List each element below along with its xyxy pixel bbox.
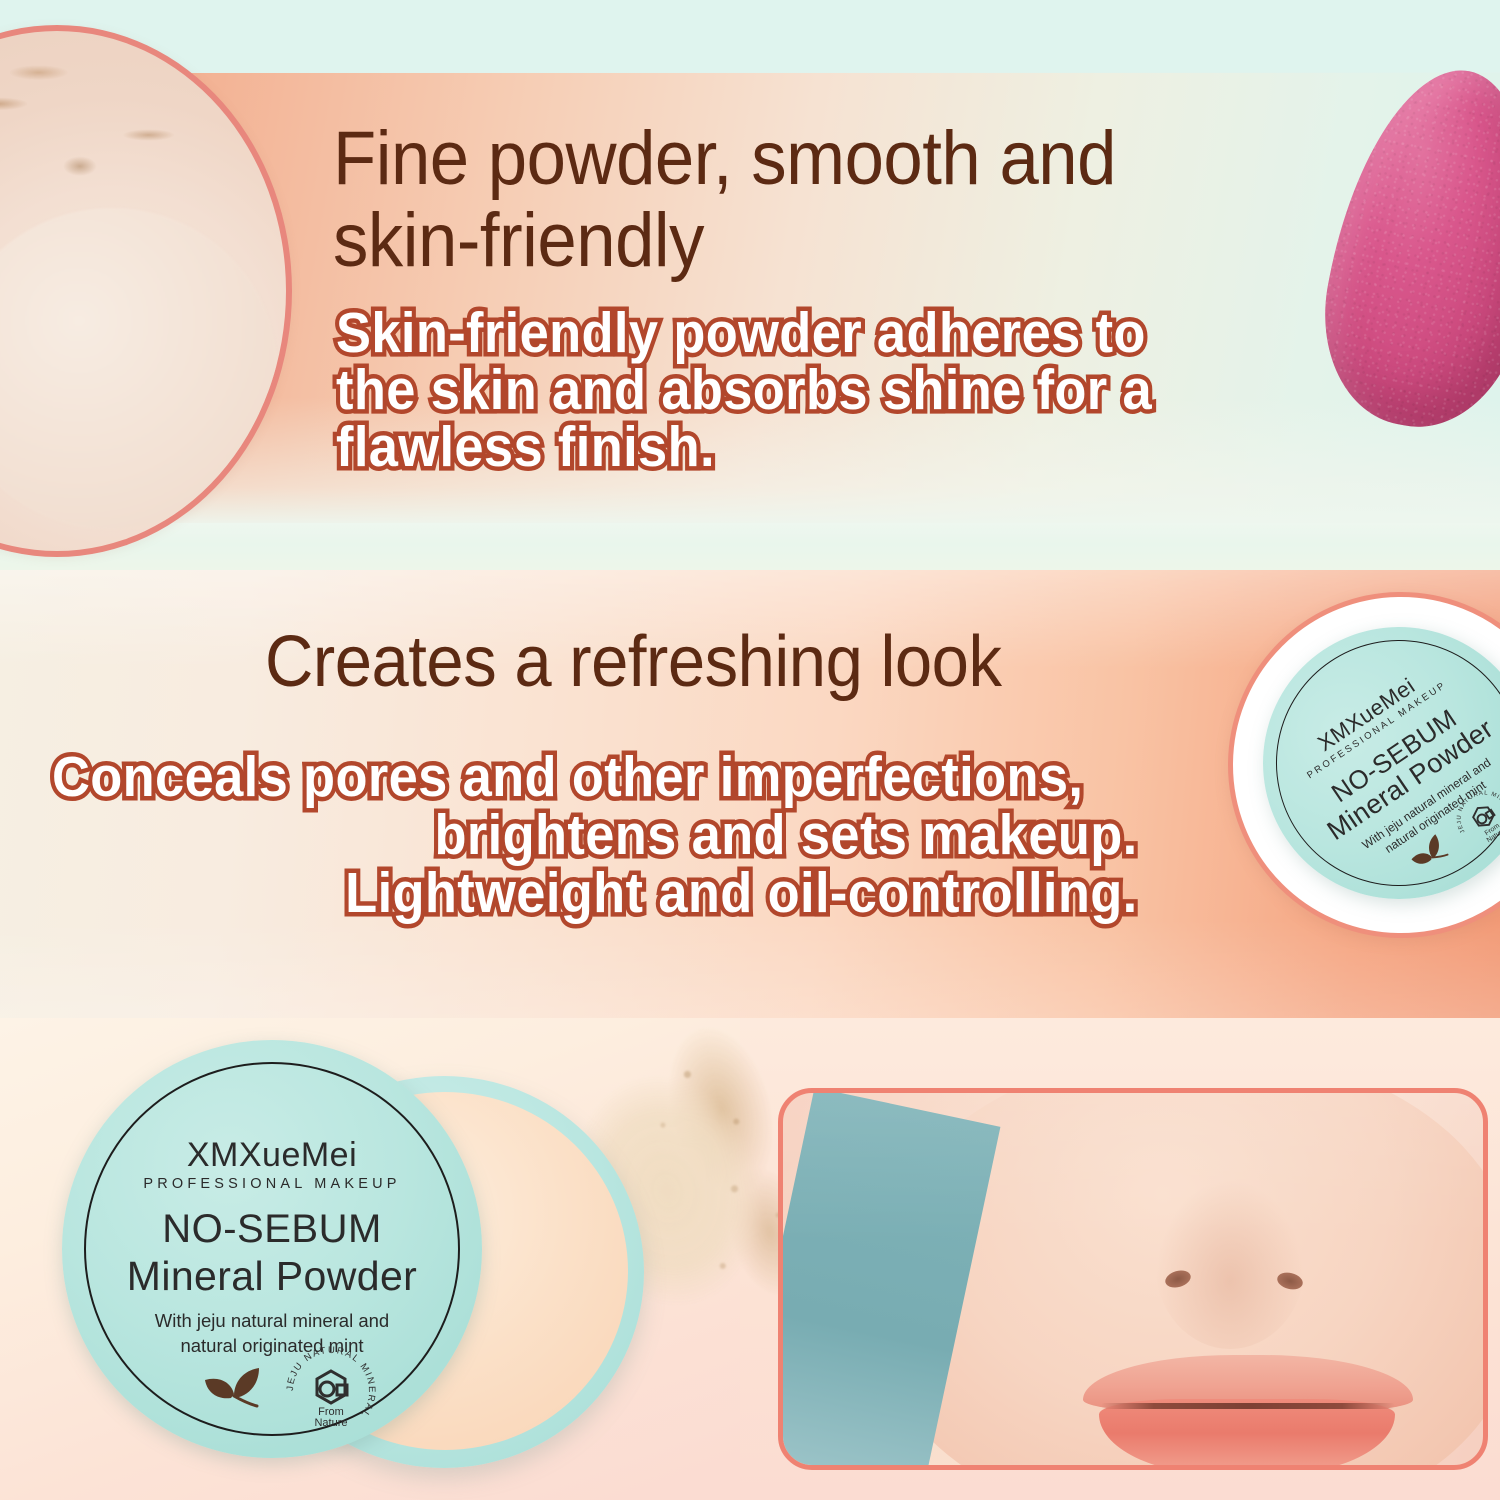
lid-surface-large: XMXueMei PROFESSIONAL MAKEUP NO-SEBUM Mi… — [62, 1040, 482, 1458]
section-one-headline: Fine powder, smooth and skin-friendly — [333, 118, 1263, 282]
leaf-icon — [201, 1358, 265, 1412]
brand-subtitle: PROFESSIONAL MAKEUP — [62, 1176, 482, 1192]
description-line-two: natural originated mint — [62, 1333, 482, 1358]
powder-photo-circle — [0, 25, 292, 557]
product-description: With jeju natural mineral and natural or… — [62, 1308, 482, 1358]
brand-name: XMXueMei — [62, 1136, 482, 1175]
product-compact-large: XMXueMei PROFESSIONAL MAKEUP NO-SEBUM Mi… — [62, 1040, 592, 1470]
section-one-body: Skin-friendly powder adheres to the skin… — [336, 305, 1238, 476]
section-two-headline: Creates a refreshing look — [265, 622, 1251, 702]
face-highlight — [783, 1093, 1483, 1465]
seal-nature-text: Nature — [314, 1417, 347, 1429]
compact-lid-large: XMXueMei PROFESSIONAL MAKEUP NO-SEBUM Mi… — [62, 1040, 482, 1458]
jeju-natural-mineral-seal: JEJU NATURAL MINERAL From Nature — [285, 1345, 377, 1437]
section-two-body: Conceals pores and other imperfections, … — [52, 748, 1138, 922]
product-line-two: Mineral Powder — [62, 1253, 482, 1300]
section-two-body-line-2: brightens and sets makeup. — [52, 806, 1138, 864]
section-two-body-line-3: Lightweight and oil-controlling. — [52, 864, 1138, 922]
description-line-one: With jeju natural mineral and — [62, 1308, 482, 1333]
product-line-one: NO-SEBUM — [62, 1207, 482, 1252]
promo-page: Fine powder, smooth and skin-friendly Sk… — [0, 0, 1500, 1500]
section-two-body-line-1: Conceals pores and other imperfections, — [52, 748, 1138, 806]
model-face-photo — [778, 1088, 1488, 1470]
